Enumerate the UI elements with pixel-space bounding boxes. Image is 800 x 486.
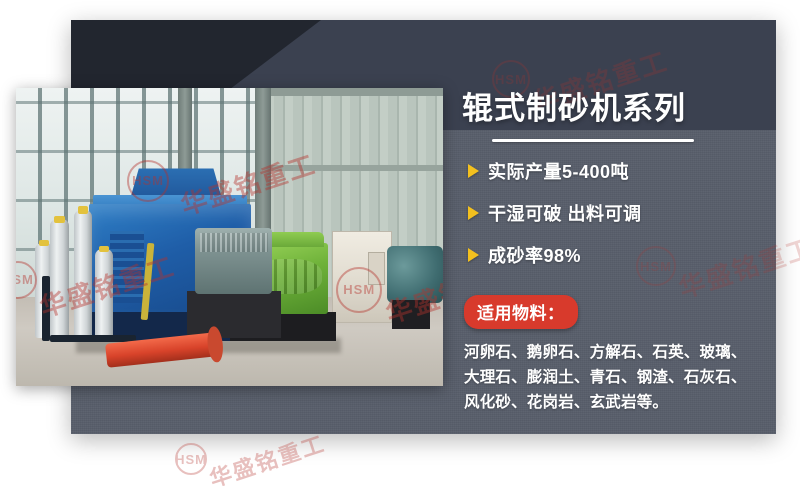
photo-wall-beam-mid <box>255 165 443 171</box>
materials-text: 河卵石、鹅卵石、方解石、石英、玻璃、大理石、膨润土、青石、钢渣、石灰石、风化砂、… <box>464 340 756 415</box>
feature-item: 实际产量5-400吨 <box>468 158 767 184</box>
photo-accumulator-cylinder <box>74 210 93 338</box>
photo-accumulator-cylinder <box>50 219 69 338</box>
cylinder-cap-icon <box>78 206 89 214</box>
photo-pipe-vertical <box>42 276 51 342</box>
banner-content: 辊式制砂机系列 实际产量5-400吨 干湿可破 出料可调 成砂率98% 适用物料… <box>462 92 767 415</box>
photo-teal-motor-stand <box>392 300 430 330</box>
photo-crusher-frame <box>110 231 144 303</box>
cylinder-cap-icon <box>54 216 65 223</box>
feature-label: 实际产量5-400吨 <box>488 158 629 184</box>
cylinder-cap-icon <box>39 240 49 246</box>
photo-control-cabinet <box>332 231 392 323</box>
photo-wall-beam-top <box>255 88 443 96</box>
watermark-seal-icon: HSM <box>175 443 207 475</box>
banner-canvas: HSM 华盛铭重工 HSM 华盛铭重工 HSM 华盛铭重工 HSM 华盛铭重工 … <box>0 0 800 486</box>
feature-list: 实际产量5-400吨 干湿可破 出料可调 成砂率98% <box>462 158 767 268</box>
watermark-text: 华盛铭重工 <box>205 426 329 486</box>
cylinder-cap-icon <box>99 246 109 251</box>
feature-item: 干湿可破 出料可调 <box>468 200 767 226</box>
photo-teal-motor <box>387 246 443 303</box>
feature-label: 干湿可破 出料可调 <box>488 200 642 226</box>
materials-badge: 适用物料： <box>464 295 578 329</box>
photo-accumulator-cylinder <box>95 249 112 338</box>
page-title: 辊式制砂机系列 <box>462 92 767 126</box>
arrow-right-icon <box>468 206 479 220</box>
arrow-right-icon <box>468 164 479 178</box>
photo-pipe-horizontal <box>50 335 135 342</box>
feature-item: 成砂率98% <box>468 242 767 268</box>
title-divider <box>492 139 694 142</box>
arrow-right-icon <box>468 248 479 262</box>
photo-electric-motor <box>195 228 272 294</box>
product-photo: HSM 华盛铭重工 HSM 华盛铭重工 HSM 华盛铭重工 <box>16 88 443 386</box>
photo-motor-plinth <box>187 291 281 339</box>
feature-label: 成砂率98% <box>488 242 581 268</box>
product-photo-scene: HSM 华盛铭重工 HSM 华盛铭重工 HSM 华盛铭重工 <box>16 88 443 386</box>
